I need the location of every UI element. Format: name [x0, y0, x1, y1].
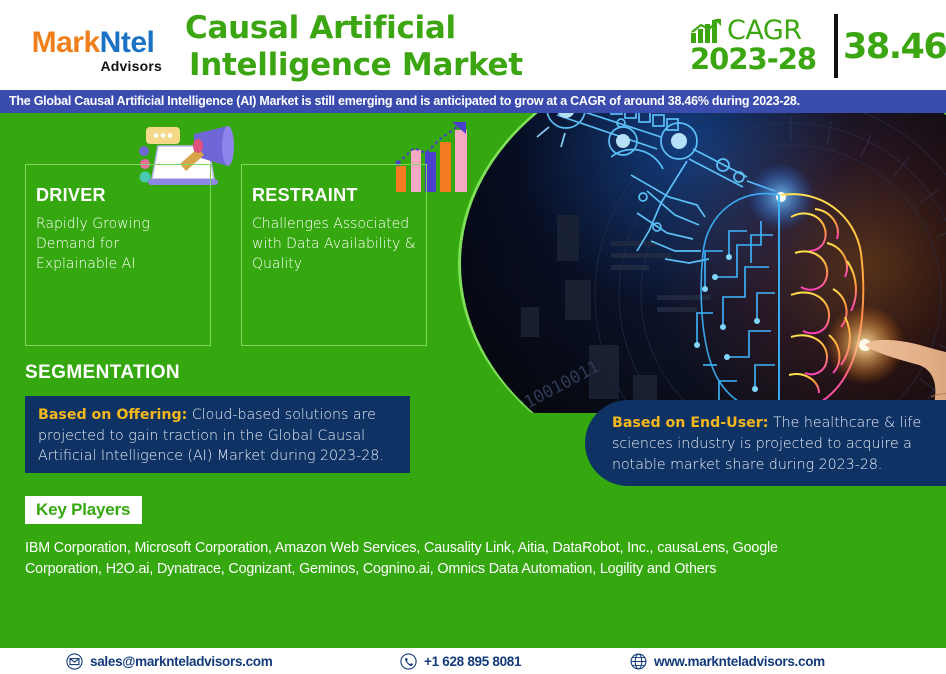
- ai-circle-frame: 01010010011: [458, 113, 946, 413]
- segmentation-offering-box: Based on Offering: Cloud-based solutions…: [25, 396, 410, 473]
- segmentation-heading: SEGMENTATION: [25, 362, 180, 384]
- restraint-card-text: Challenges Associated with Data Availabi…: [252, 214, 416, 274]
- summary-banner: The Global Causal Artificial Intelligenc…: [0, 90, 946, 113]
- globe-icon: [630, 653, 647, 670]
- footer: sales@marknteladvisors.com +1 628 895 80…: [0, 648, 946, 674]
- cagr-block: CAGR 2023-28 38.46%: [690, 14, 940, 78]
- summary-banner-text: The Global Causal Artificial Intelligenc…: [0, 90, 946, 113]
- cagr-period: 2023-28: [690, 44, 826, 75]
- logo-wordmark: MarkNtel: [22, 28, 164, 58]
- footer-email[interactable]: sales@marknteladvisors.com: [66, 648, 272, 674]
- ai-artwork: 01010010011: [461, 113, 946, 413]
- logo-subtitle: Advisors: [22, 59, 164, 73]
- restraint-card: RESTRAINT Challenges Associated with Dat…: [241, 164, 427, 346]
- infographic-root: MarkNtel Advisors Causal Artificial Inte…: [0, 0, 946, 674]
- cagr-value: 38.46%: [843, 24, 946, 70]
- bar-chart-arrow-icon: [690, 18, 724, 44]
- envelope-icon: [66, 653, 83, 670]
- cagr-label: CAGR: [727, 18, 802, 44]
- company-logo: MarkNtel Advisors: [22, 28, 164, 73]
- page-title-line2: Intelligence Market: [185, 47, 655, 84]
- ai-brain-robot-human-hand-illustration: 01010010011: [458, 113, 946, 413]
- footer-website[interactable]: www.marknteladvisors.com: [630, 648, 825, 674]
- key-players-tag-label: Key Players: [36, 500, 130, 519]
- restraint-card-heading: RESTRAINT: [252, 185, 426, 206]
- driver-card: DRIVER Rapidly Growing Demand for Explai…: [25, 164, 211, 346]
- segmentation-enduser-box: Based on End-User: The healthcare & life…: [585, 400, 946, 486]
- footer-phone-text: +1 628 895 8081: [424, 654, 521, 669]
- logo-text-ntel: Ntel: [100, 26, 155, 59]
- segmentation-offering-key: Based on Offering:: [38, 407, 187, 423]
- segmentation-enduser-text: Based on End-User: The healthcare & life…: [612, 413, 934, 476]
- page-title-line1: Causal Artificial: [185, 10, 655, 47]
- footer-website-text: www.marknteladvisors.com: [654, 654, 825, 669]
- footer-email-text: sales@marknteladvisors.com: [90, 654, 272, 669]
- key-players-list: IBM Corporation, Microsoft Corporation, …: [25, 538, 825, 580]
- cagr-label-group: CAGR 2023-28: [690, 14, 826, 75]
- header: MarkNtel Advisors Causal Artificial Inte…: [0, 0, 946, 90]
- key-players-tag: Key Players: [25, 496, 142, 524]
- segmentation-enduser-key: Based on End-User:: [612, 415, 768, 431]
- logo-text-mark: Mark: [32, 26, 100, 59]
- phone-icon: [400, 653, 417, 670]
- segmentation-offering-text: Based on Offering: Cloud-based solutions…: [38, 405, 397, 467]
- cagr-label-row: CAGR: [690, 14, 826, 44]
- svg-text:01010010011: 01010010011: [494, 357, 603, 413]
- driver-card-text: Rapidly Growing Demand for Explainable A…: [36, 214, 200, 274]
- page-title: Causal Artificial Intelligence Market: [185, 10, 655, 83]
- footer-phone[interactable]: +1 628 895 8081: [400, 648, 521, 674]
- cagr-divider: [834, 14, 838, 78]
- driver-card-heading: DRIVER: [36, 185, 210, 206]
